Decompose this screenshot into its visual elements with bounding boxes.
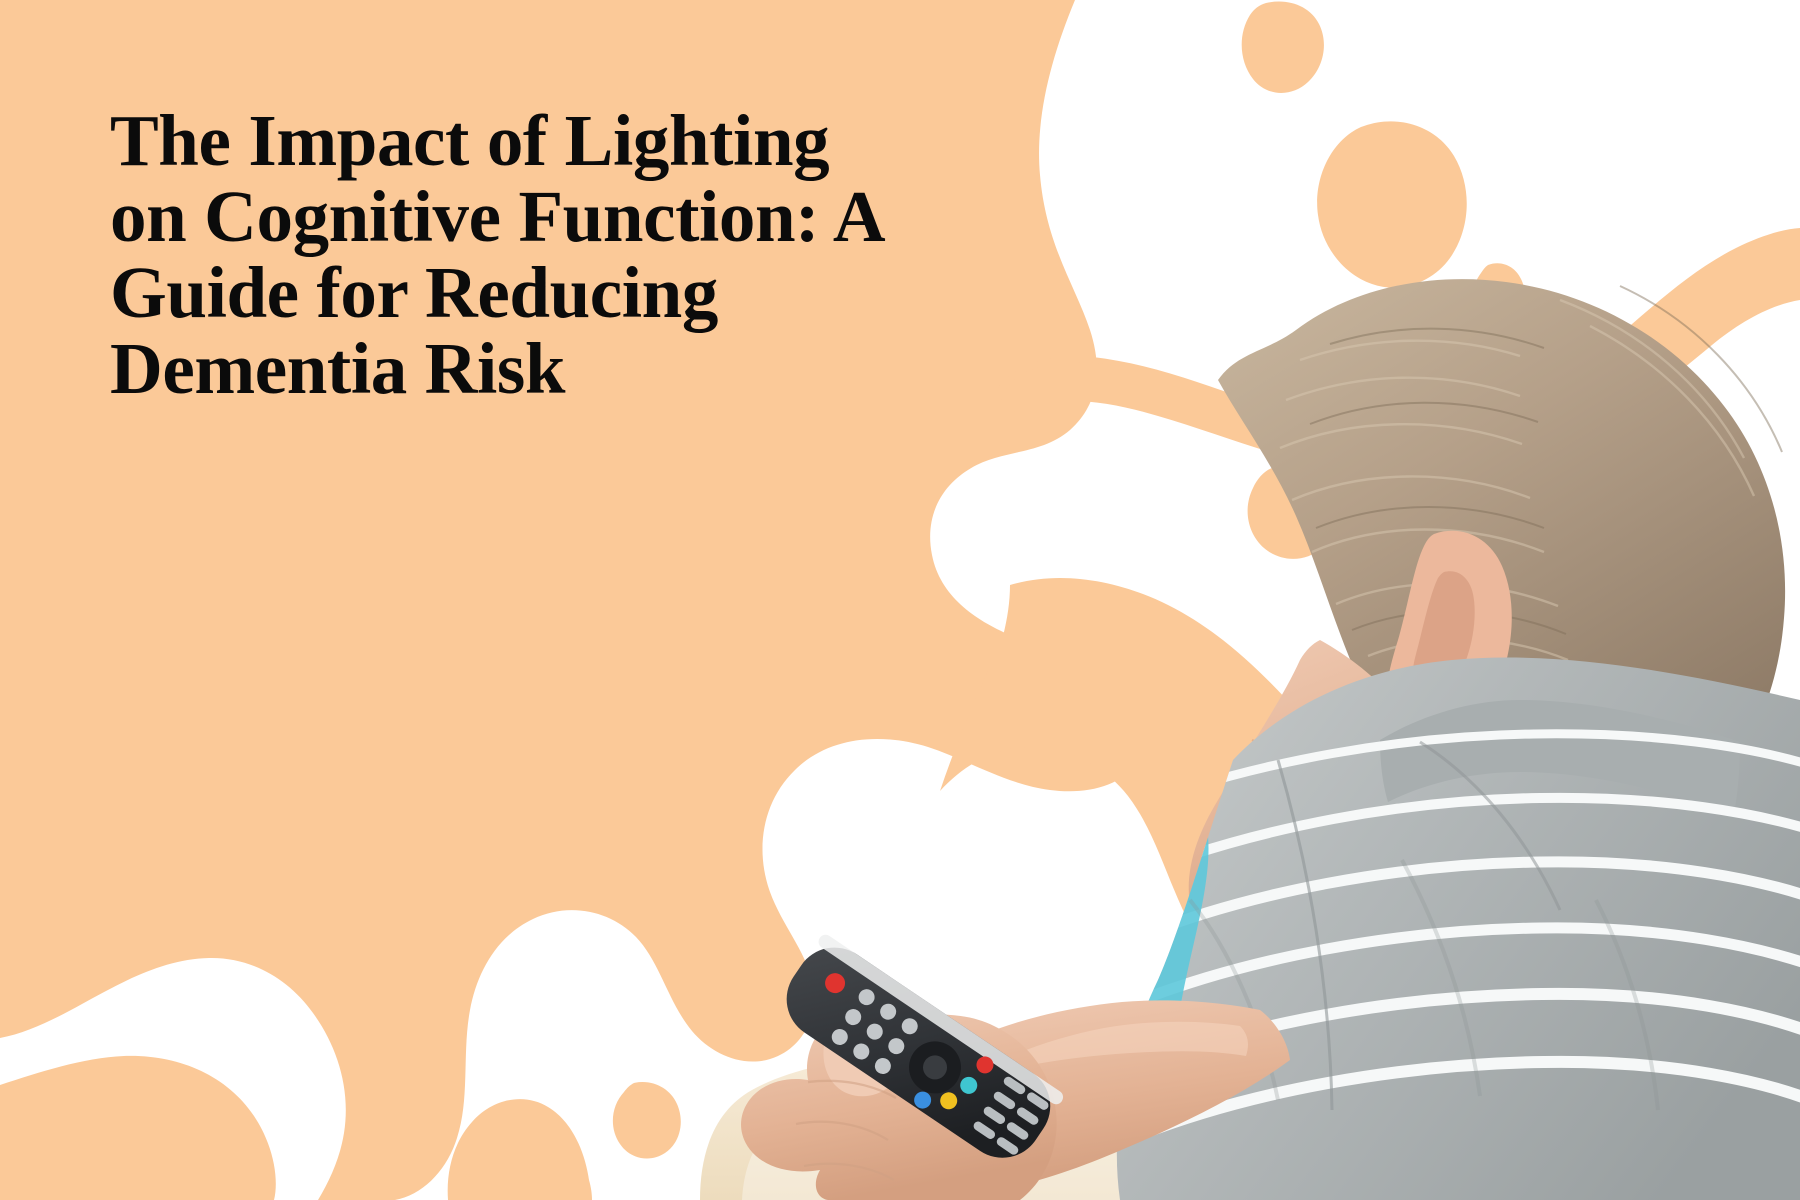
hero-banner: The Impact of Lighting on Cognitive Func… (0, 0, 1800, 1200)
page-title: The Impact of Lighting on Cognitive Func… (110, 103, 970, 407)
title-block: The Impact of Lighting on Cognitive Func… (110, 103, 970, 407)
